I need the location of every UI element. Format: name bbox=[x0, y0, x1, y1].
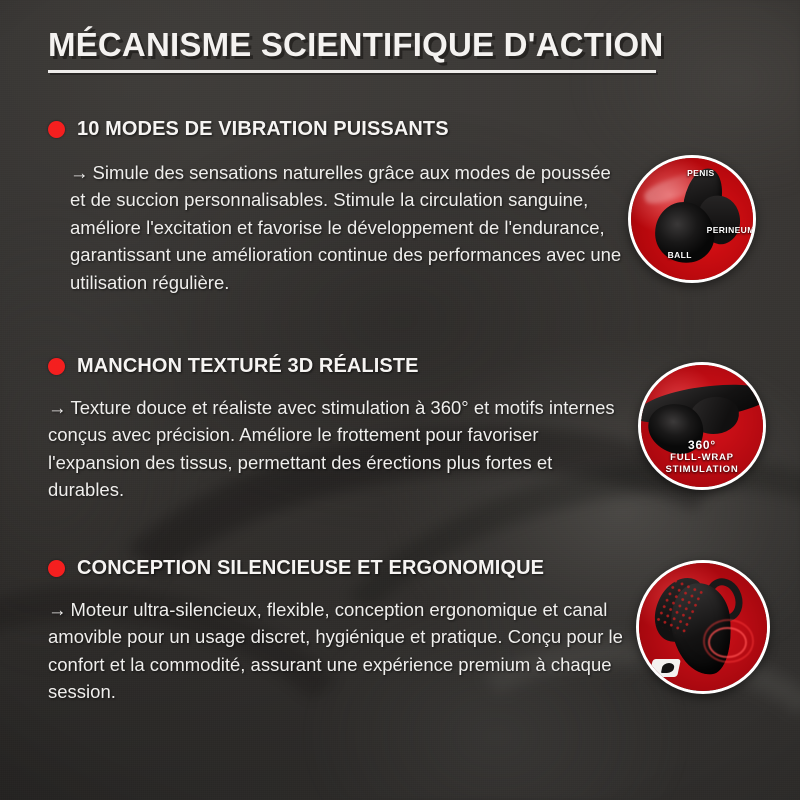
feature-heading-1: 10 MODES DE VIBRATION PUISSANTS bbox=[77, 118, 449, 141]
red-dot-icon bbox=[48, 358, 65, 375]
feature-body-text-3: Moteur ultra-silencieux, flexible, conce… bbox=[48, 599, 623, 702]
feature-body-2: →Texture douce et réaliste avec stimulat… bbox=[48, 394, 628, 504]
arrow-icon: → bbox=[48, 397, 67, 418]
feature-section-1: 10 MODES DE VIBRATION PUISSANTS →Simule … bbox=[48, 118, 648, 296]
feature-body-1: →Simule des sensations naturelles grâce … bbox=[70, 159, 630, 296]
caption-line-2: STIMULATION bbox=[641, 464, 763, 476]
product-zones-image: PENIS BALL PERINEUM bbox=[631, 158, 753, 280]
red-dot-icon bbox=[48, 560, 65, 577]
full-wrap-stimulation-photo: 360° FULL-WRAP STIMULATION bbox=[638, 362, 766, 490]
zone-label-perineum: PERINEUM bbox=[707, 225, 755, 235]
arrow-icon: → bbox=[70, 162, 89, 183]
device-badge bbox=[649, 659, 681, 677]
full-wrap-caption: 360° FULL-WRAP STIMULATION bbox=[641, 438, 763, 476]
caption-line-1: FULL-WRAP bbox=[641, 452, 763, 464]
feature-body-text-1: Simule des sensations naturelles grâce a… bbox=[70, 162, 621, 293]
zone-label-penis: PENIS bbox=[687, 168, 715, 178]
feature-heading-row-3: CONCEPTION SILENCIEUSE ET ERGONOMIQUE bbox=[48, 557, 648, 580]
feature-body-text-2: Texture douce et réaliste avec stimulati… bbox=[48, 397, 615, 500]
vibration-wave bbox=[708, 627, 746, 658]
ergonomic-device-photo bbox=[636, 560, 770, 694]
feature-section-3: CONCEPTION SILENCIEUSE ET ERGONOMIQUE →M… bbox=[48, 557, 648, 706]
product-zones-photo: PENIS BALL PERINEUM bbox=[628, 155, 756, 283]
feature-heading-row-1: 10 MODES DE VIBRATION PUISSANTS bbox=[48, 118, 648, 141]
arrow-icon: → bbox=[48, 599, 67, 620]
feature-section-2: MANCHON TEXTURÉ 3D RÉALISTE →Texture dou… bbox=[48, 355, 648, 504]
content-area: MÉCANISME SCIENTIFIQUE D'ACTION 10 MODES… bbox=[0, 0, 800, 800]
caption-degrees: 360° bbox=[641, 438, 763, 452]
red-dot-icon bbox=[48, 121, 65, 138]
page-title: MÉCANISME SCIENTIFIQUE D'ACTION bbox=[48, 26, 668, 68]
feature-heading-3: CONCEPTION SILENCIEUSE ET ERGONOMIQUE bbox=[77, 557, 544, 580]
feature-heading-row-2: MANCHON TEXTURÉ 3D RÉALISTE bbox=[48, 355, 648, 378]
feature-heading-2: MANCHON TEXTURÉ 3D RÉALISTE bbox=[77, 355, 419, 378]
feature-body-3: →Moteur ultra-silencieux, flexible, conc… bbox=[48, 596, 628, 706]
zone-label-ball: BALL bbox=[668, 250, 692, 260]
full-wrap-image: 360° FULL-WRAP STIMULATION bbox=[641, 365, 763, 487]
ergonomic-device-image bbox=[639, 563, 767, 691]
page-title-text: MÉCANISME SCIENTIFIQUE D'ACTION bbox=[48, 26, 663, 68]
promo-banner: MÉCANISME SCIENTIFIQUE D'ACTION 10 MODES… bbox=[0, 0, 800, 800]
title-underline bbox=[48, 70, 656, 73]
